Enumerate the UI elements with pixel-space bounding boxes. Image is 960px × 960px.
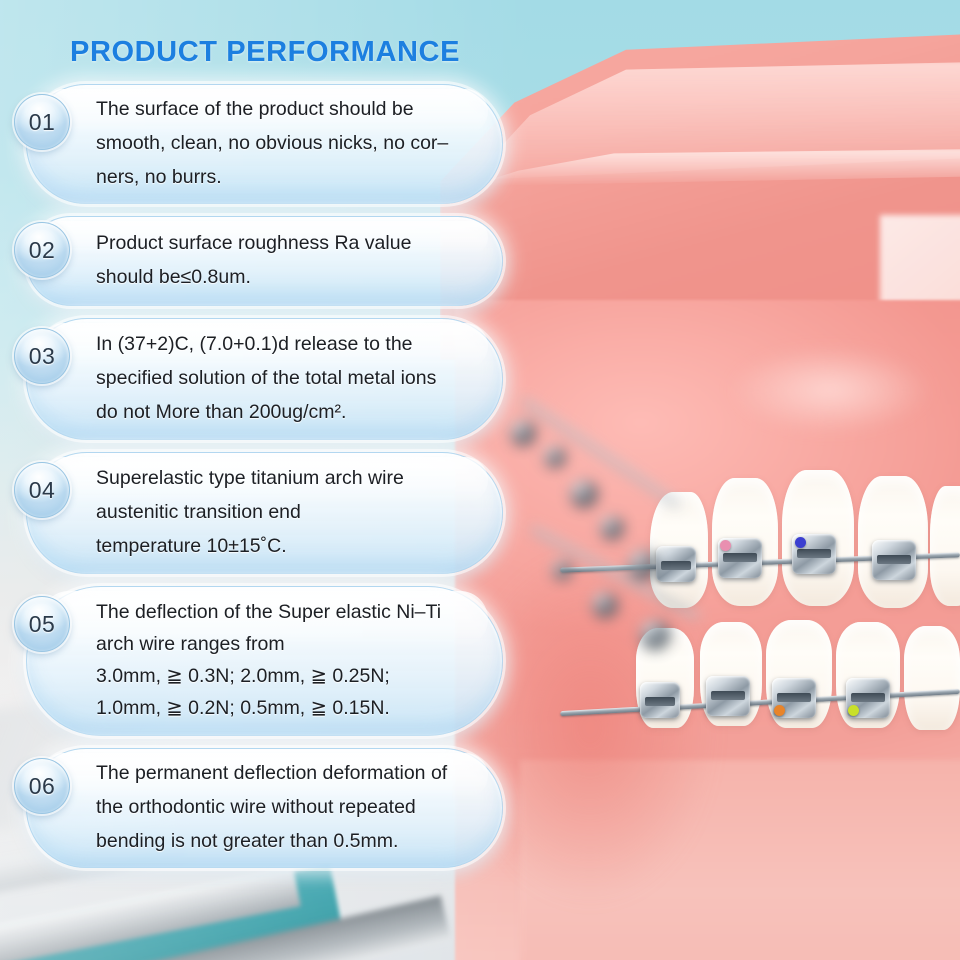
item-number-badge-03: 03 [14,328,70,384]
item-line: In (37+2)C, (7.0+0.1)d release to the [96,327,514,361]
item-line: Superelastic type titanium arch wire [96,461,514,495]
item-line: The deflection of the Super elastic Ni–T… [96,596,514,628]
item-number: 03 [29,343,56,370]
item-line: do not More than 200ug/cm². [96,395,514,429]
item-number: 04 [29,477,56,504]
item-number: 01 [29,109,56,136]
item-line: ners, no burrs. [96,160,514,194]
item-number: 05 [29,611,56,638]
item-line: arch wire ranges from [96,628,514,660]
item-number-badge-06: 06 [14,758,70,814]
item-number: 02 [29,237,56,264]
list-item-04[interactable]: 04 Superelastic type titanium arch wire … [0,452,540,572]
item-line: 1.0mm, ≧ 0.2N; 0.5mm, ≧ 0.15N. [96,692,514,724]
item-number-badge-05: 05 [14,596,70,652]
item-line: temperature 10±15˚C. [96,529,514,563]
item-line: The surface of the product should be [96,92,514,126]
item-number-badge-01: 01 [14,94,70,150]
item-line: specified solution of the total metal io… [96,361,514,395]
item-line: The permanent deflection deformation of [96,756,514,790]
item-number-badge-02: 02 [14,222,70,278]
item-text: The deflection of the Super elastic Ni–T… [96,586,514,734]
item-number: 06 [29,773,56,800]
item-line: austenitic transition end [96,495,514,529]
content-layer: PRODUCT PERFORMANCE 01 The surface of th… [0,0,960,960]
list-item-03[interactable]: 03 In (37+2)C, (7.0+0.1)d release to the… [0,318,540,438]
item-line: Product surface roughness Ra value [96,226,514,260]
list-item-05[interactable]: 05 The deflection of the Super elastic N… [0,586,540,734]
item-number-badge-04: 04 [14,462,70,518]
item-text: The surface of the product should be smo… [96,84,514,202]
item-text: In (37+2)C, (7.0+0.1)d release to the sp… [96,318,514,438]
performance-list: 01 The surface of the product should be … [0,84,540,880]
list-item-02[interactable]: 02 Product surface roughness Ra value sh… [0,216,540,304]
page-title: PRODUCT PERFORMANCE [70,36,460,69]
item-text: Product surface roughness Ra value shoul… [96,216,514,304]
list-item-06[interactable]: 06 The permanent deflection deformation … [0,748,540,866]
item-text: Superelastic type titanium arch wire aus… [96,452,514,572]
list-item-01[interactable]: 01 The surface of the product should be … [0,84,540,202]
item-line: should be≤0.8um. [96,260,514,294]
item-line: smooth, clean, no obvious nicks, no cor– [96,126,514,160]
infographic-page: PRODUCT PERFORMANCE 01 The surface of th… [0,0,960,960]
item-line: bending is not greater than 0.5mm. [96,824,514,858]
item-line: 3.0mm, ≧ 0.3N; 2.0mm, ≧ 0.25N; [96,660,514,692]
item-text: The permanent deflection deformation of … [96,748,514,866]
item-line: the orthodontic wire without repeated [96,790,514,824]
